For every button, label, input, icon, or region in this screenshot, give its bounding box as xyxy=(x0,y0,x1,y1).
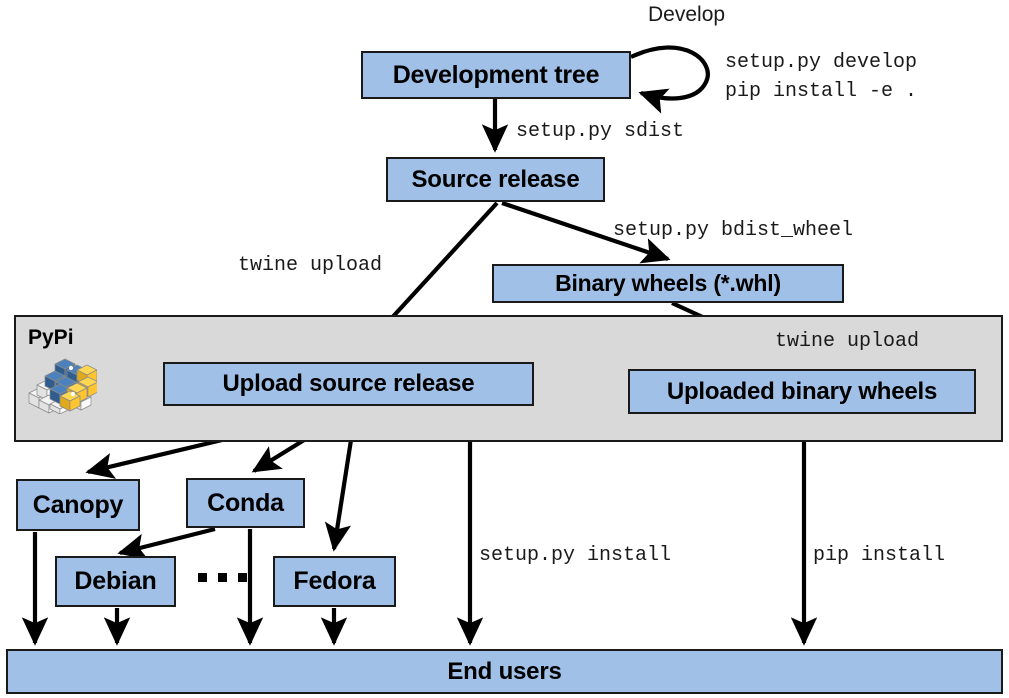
node-development-tree[interactable]: Development tree xyxy=(361,51,631,99)
edge-develop-self-loop xyxy=(631,47,708,98)
node-conda[interactable]: Conda xyxy=(186,478,305,528)
label-twine-upload-source: twine upload xyxy=(238,254,382,277)
label-pip-install-editable: pip install -e . xyxy=(725,80,917,103)
diagram-canvas: PyPi xyxy=(0,0,1009,698)
label-twine-upload-wheels: twine upload xyxy=(775,330,919,353)
ellipsis-more-distros xyxy=(198,573,247,582)
node-upload-source-release[interactable]: Upload source release xyxy=(163,362,534,406)
node-end-users[interactable]: End users xyxy=(6,649,1003,694)
node-canopy[interactable]: Canopy xyxy=(16,479,140,531)
edge-conda-to-debian xyxy=(120,529,215,553)
label-setup-py-develop: setup.py develop xyxy=(725,51,917,74)
pypi-python-cubes-logo xyxy=(25,357,97,414)
node-debian[interactable]: Debian xyxy=(55,556,176,607)
node-source-release[interactable]: Source release xyxy=(386,157,605,202)
node-binary-wheels[interactable]: Binary wheels (*.whl) xyxy=(492,264,844,303)
label-pip-install: pip install xyxy=(813,544,945,567)
label-setup-py-bdist-wheel: setup.py bdist_wheel xyxy=(613,219,853,242)
node-uploaded-binary-wheels[interactable]: Uploaded binary wheels xyxy=(628,369,976,414)
label-setup-py-install: setup.py install xyxy=(479,544,671,567)
label-setup-py-sdist: setup.py sdist xyxy=(516,120,684,143)
node-fedora[interactable]: Fedora xyxy=(273,556,396,607)
label-develop: Develop xyxy=(648,3,725,27)
pypi-group-label: PyPi xyxy=(28,326,74,350)
